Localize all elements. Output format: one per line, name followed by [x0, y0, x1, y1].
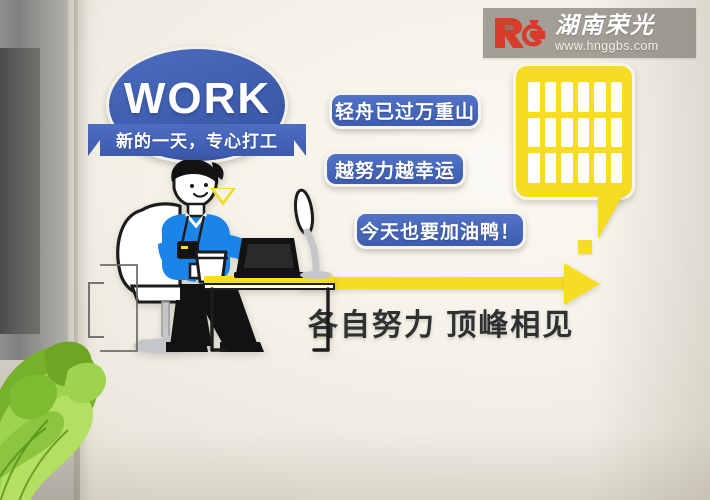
bubble-cell [545, 82, 557, 112]
bubble-cell [611, 118, 623, 148]
slogan-badge-2-label: 越努力越幸运 [335, 156, 455, 183]
arrow-head-icon [564, 263, 600, 305]
slogan-badge-1-label: 轻舟已过万重山 [335, 97, 475, 124]
yellow-grid-speech-bubble [513, 63, 635, 200]
bottom-slogan: 各自努力 顶峰相见 [308, 300, 574, 344]
bubble-cell [528, 118, 540, 148]
bubble-cell [545, 153, 557, 183]
door-inner-panel [0, 48, 40, 334]
speech-bubble-tail [598, 193, 624, 239]
bubble-cell [561, 153, 573, 183]
bubble-cell [561, 82, 573, 112]
bubble-cell [561, 118, 573, 148]
bubble-cell [528, 153, 540, 183]
yellow-triangle-accent-inner [214, 189, 232, 201]
slogan-badge-3: 今天也要加油鸭！ [354, 211, 526, 249]
ribbon-label: 新的一天，专心打工 [116, 127, 278, 153]
watermark-website: www.hnggbs.com [555, 40, 659, 53]
bubble-cell [594, 153, 606, 183]
bubble-grid [528, 82, 622, 183]
bubble-cell [545, 118, 557, 148]
watermark-text-block: 湖南荣光 www.hnggbs.com [555, 14, 659, 53]
slogan-badge-1: 轻舟已过万重山 [329, 92, 481, 129]
dark-door-panel [0, 0, 74, 368]
watermark-company-name: 湖南荣光 [555, 14, 659, 37]
slogan-badge-2: 越努力越幸运 [324, 151, 466, 187]
bubble-cell [528, 82, 540, 112]
bubble-cell [594, 118, 606, 148]
bubble-cell [611, 82, 623, 112]
scene-canvas: 湖南荣光 www.hnggbs.com WORK 新的一天，专心打工 轻舟已过万… [0, 0, 710, 500]
work-title: WORK [100, 74, 295, 124]
bubble-cell [578, 82, 590, 112]
slogan-badge-3-label: 今天也要加油鸭！ [360, 217, 520, 244]
bubble-cell [594, 82, 606, 112]
watermark-logo-bar: 湖南荣光 www.hnggbs.com [483, 8, 696, 58]
arrow-shaft [300, 277, 568, 289]
rg-monogram-logo-icon [491, 14, 547, 52]
bubble-cell [611, 153, 623, 183]
bubble-cell [578, 153, 590, 183]
ribbon-banner: 新的一天，专心打工 [88, 124, 306, 156]
yellow-square-accent [578, 240, 592, 254]
bubble-cell [578, 118, 590, 148]
plant-svg [0, 330, 162, 500]
potted-fern-plant [0, 330, 162, 500]
